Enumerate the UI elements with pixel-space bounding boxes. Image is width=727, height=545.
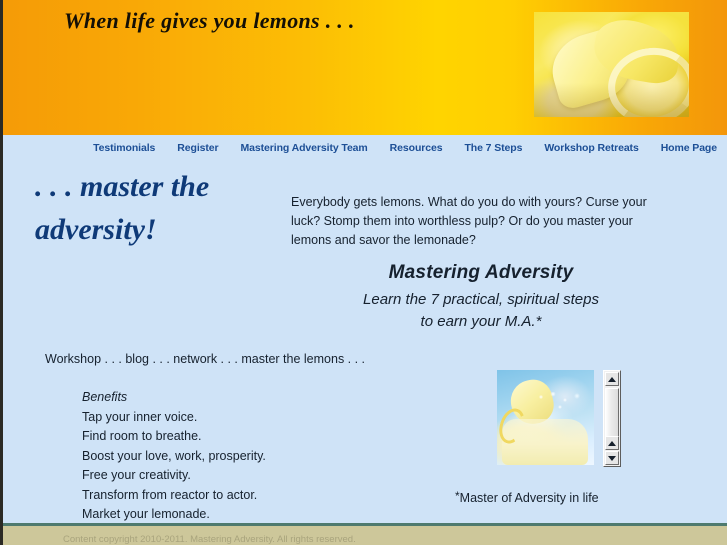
nav-item-register[interactable]: Register [177,142,218,154]
tagline-line-2: adversity! [35,208,275,251]
header-tagline: When life gives you lemons . . . [64,8,355,34]
benefit-item: Find room to breathe. [82,427,266,447]
page-root: When life gives you lemons . . . Testimo… [0,0,727,545]
main-content: . . . master the adversity! Everybody ge… [3,160,727,523]
benefits-list: Benefits Tap your inner voice. Find room… [82,388,266,525]
nav-item-mastering-adversity-team[interactable]: Mastering Adversity Team [241,142,368,154]
page-tagline: . . . master the adversity! [35,165,275,251]
scroll-up-button-bottom[interactable] [605,436,619,450]
lemon-splash-image [497,370,594,465]
benefits-heading: Benefits [82,388,266,408]
benefit-item: Transform from reactor to actor. [82,486,266,506]
benefit-item: Tap your inner voice. [82,408,266,428]
footnote: *Master of Adversity in life [455,491,599,505]
nav-item-resources[interactable]: Resources [390,142,443,154]
promo-title: Mastering Adversity [291,262,671,284]
photo-shading [534,83,689,117]
site-header-banner: When life gives you lemons . . . [3,0,727,135]
nav-item-home-page[interactable]: Home Page [661,142,717,154]
triangle-down-icon [608,456,616,461]
scroll-up-button-top[interactable] [605,372,619,386]
nav-item-testimonials[interactable]: Testimonials [93,142,155,154]
workshop-blog-network-line: Workshop . . . blog . . . network . . . … [45,352,365,366]
benefit-item: Boost your love, work, prosperity. [82,447,266,467]
header-lemon-image [534,12,689,117]
promo-subtitle-line-2: to earn your M.A.* [291,311,671,333]
triangle-up-icon [608,441,616,446]
triangle-up-icon [608,377,616,382]
scroll-down-button[interactable] [605,451,619,465]
nav-item-the-7-steps[interactable]: The 7 Steps [464,142,522,154]
tagline-line-1: . . . master the [35,165,275,208]
footnote-text: Master of Adversity in life [460,491,599,505]
intro-paragraph: Everybody gets lemons. What do you do wi… [291,193,661,250]
benefit-item: Free your creativity. [82,466,266,486]
copyright-text: Content copyright 2010-2011. Mastering A… [63,534,356,545]
promo-block: Mastering Adversity Learn the 7 practica… [291,262,671,333]
promo-subtitle-line-1: Learn the 7 practical, spiritual steps [291,289,671,311]
vertical-scrollbar[interactable] [603,370,621,467]
nav-item-workshop-retreats[interactable]: Workshop Retreats [544,142,638,154]
site-footer: Content copyright 2010-2011. Mastering A… [3,523,727,545]
media-block [497,370,627,470]
water-droplets-shape [535,392,585,414]
benefit-item: Market your lemonade. [82,505,266,525]
primary-navigation: Testimonials Register Mastering Adversit… [3,135,727,160]
